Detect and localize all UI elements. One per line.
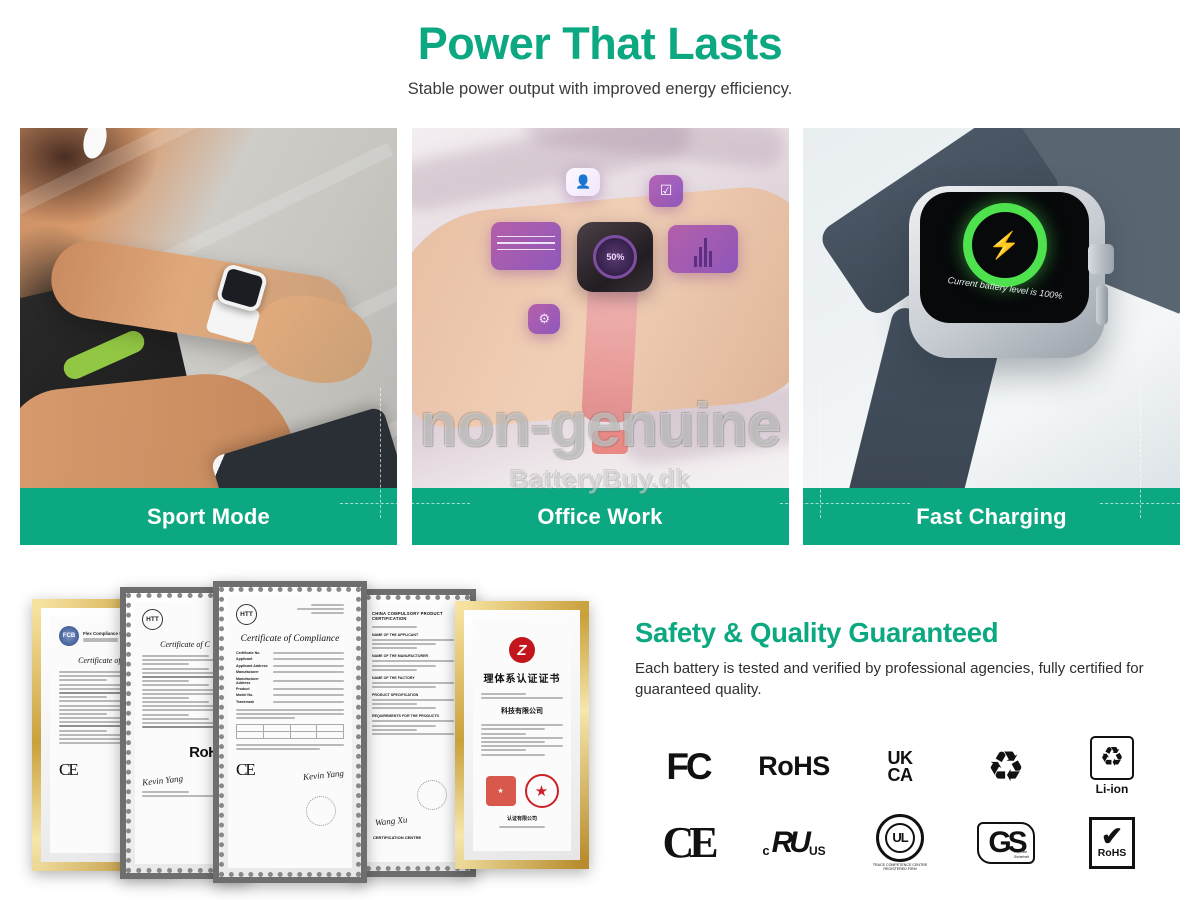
tile-chart-icon (668, 225, 738, 273)
cert-section: PRODUCT SPECIFICATION (372, 693, 454, 697)
cert-title: Certificate of Compliance (236, 634, 344, 644)
cert-title: 理体系认证证书 (481, 670, 563, 685)
cert-title: CHINA COMPULSORY PRODUCT CERTIFICATION (372, 611, 454, 621)
feature-card-fast-charging[interactable]: ⚡ Current battery level is 100% Fast Cha… (803, 128, 1180, 545)
cert-section: NAME OF THE MANUFACTURER (372, 654, 454, 658)
tile-sliders-icon (491, 222, 561, 270)
feature-card-office-work[interactable]: 👤 ☑ ⚙ (412, 128, 789, 545)
page-subtitle: Stable power output with improved energy… (0, 80, 1200, 99)
safety-quality-section: Safety & Quality Guaranteed Each battery… (615, 575, 1200, 900)
cert-footer: CERTIFICATION CENTRE (373, 835, 421, 840)
certification-badge-grid: FC RoHS UK CA ♻ ♻ Li-ion (635, 729, 1165, 881)
rohs-check-glyph: ✔ (1101, 826, 1123, 847)
cert-field-label: Manufacturer Address (236, 677, 270, 685)
sport-mode-photo (20, 128, 397, 488)
card-label-office-work: Office Work (412, 488, 789, 545)
crus-mark: RU (772, 828, 807, 858)
cert-field-label: Product (236, 687, 270, 691)
ul-fine-print: TRACE COMPETENCE CENTRE REGISTERED FIRM (873, 863, 927, 872)
z-certification-logo: Z (509, 637, 535, 663)
ukca-line2: CA (888, 767, 913, 784)
cert-section: NAME OF THE FACTORY (372, 676, 454, 680)
red-stamp: ★ (486, 776, 516, 806)
fcc-badge: FC (635, 729, 741, 805)
ce-icon: CE (662, 821, 713, 865)
gs-badge: GS Geprüfte Sicherheit (953, 805, 1059, 881)
cert-ce-mark: CE (59, 760, 77, 780)
gs-tiny-print: Geprüfte Sicherheit (1014, 850, 1029, 858)
ce-badge: CE (635, 805, 741, 881)
liion-icon: ♻ Li-ion (1090, 736, 1134, 798)
feature-card-sport-mode[interactable]: Sport Mode (20, 128, 397, 545)
crus-prefix: c (762, 843, 769, 858)
cert-section: REQUIREMENTS FOR THE PRODUCTS (372, 714, 454, 718)
certificate-gallery[interactable]: FCB Flex Compliance Standard Certificate… (0, 575, 615, 900)
safety-title: Safety & Quality Guaranteed (635, 617, 1165, 649)
red-seal: ★ (525, 774, 559, 808)
card-label-fast-charging: Fast Charging (803, 488, 1180, 545)
page-header: Power That Lasts Stable power output wit… (0, 0, 1200, 99)
card-label-sport-mode: Sport Mode (20, 488, 397, 545)
watch-side-button (1096, 285, 1108, 325)
rohs-check-label: RoHS (1098, 847, 1127, 859)
ul-label: UL (885, 823, 915, 853)
office-work-photo: 👤 ☑ ⚙ (412, 128, 789, 488)
rohs-text-badge: RoHS (741, 729, 847, 805)
fast-charging-photo: ⚡ Current battery level is 100% (803, 128, 1180, 488)
recycle-icon: ♻ (987, 746, 1025, 788)
page-title: Power That Lasts (0, 18, 1200, 70)
cert-seal-label: 认证有限公司 (481, 815, 563, 822)
safety-body: Each battery is tested and verified by p… (635, 658, 1165, 701)
liion-recycle-badge: ♻ Li-ion (1059, 729, 1165, 805)
ukca-icon: UK CA (888, 750, 913, 784)
tile-profile-icon: 👤 (566, 168, 600, 196)
rohs-check-icon: ✔ RoHS (1089, 817, 1135, 869)
crus-suffix: US (809, 844, 826, 858)
cert-field-label: Model No. (236, 693, 270, 697)
bottom-section: FCB Flex Compliance Standard Certificate… (0, 575, 1200, 900)
ul-recognized-badge: c RU US (741, 805, 847, 881)
certificate-image[interactable]: Z 理体系认证证书 科技有限公司 ★ ★ 认证有限公司 (455, 601, 589, 869)
fcb-logo: FCB (59, 626, 79, 646)
liion-label: Li-ion (1096, 782, 1129, 796)
htt-logo: HTT (142, 609, 163, 630)
cert-field-label: Applicant Address (236, 664, 270, 668)
ul-registered-badge: UL TRACE COMPETENCE CENTRE REGISTERED FI… (847, 805, 953, 881)
rohs-check-badge: ✔ RoHS (1059, 805, 1165, 881)
certificate-image[interactable]: HTT Certificate of Compliance Certificat… (213, 581, 367, 883)
htt-logo: HTT (236, 604, 257, 625)
cert-ce-mark: CE (236, 760, 254, 780)
watch-crown (1088, 244, 1114, 274)
ukca-badge: UK CA (847, 729, 953, 805)
smartwatch-charging: ⚡ Current battery level is 100% (909, 186, 1105, 358)
cert-section: NAME OF THE APPLICANT (372, 633, 454, 637)
cert-field-label: Certificate No. (236, 651, 270, 655)
cert-field-label: Applicant (236, 657, 270, 661)
fcc-icon: FC (666, 748, 709, 785)
recycle-badge: ♻ (953, 729, 1059, 805)
gs-icon: GS Geprüfte Sicherheit (977, 822, 1035, 864)
crus-icon: c RU US (762, 828, 825, 858)
smartwatch-office: 50% (577, 222, 653, 292)
tile-gear-icon: ⚙ (528, 304, 560, 334)
rohs-text-icon: RoHS (758, 751, 830, 782)
ul-icon: UL TRACE COMPETENCE CENTRE REGISTERED FI… (873, 814, 927, 872)
cert-company: 科技有限公司 (481, 706, 563, 716)
watch-battery-value: 50% (593, 235, 637, 279)
feature-card-row: Sport Mode 👤 ☑ (20, 128, 1180, 545)
cert-field-label: Manufacturer (236, 670, 270, 674)
tile-check-icon: ☑ (649, 175, 683, 207)
lightning-bolt-icon: ⚡ (988, 232, 1020, 258)
cert-field-label: Trademark (236, 700, 270, 704)
liion-recycle-glyph: ♻ (1090, 736, 1134, 780)
